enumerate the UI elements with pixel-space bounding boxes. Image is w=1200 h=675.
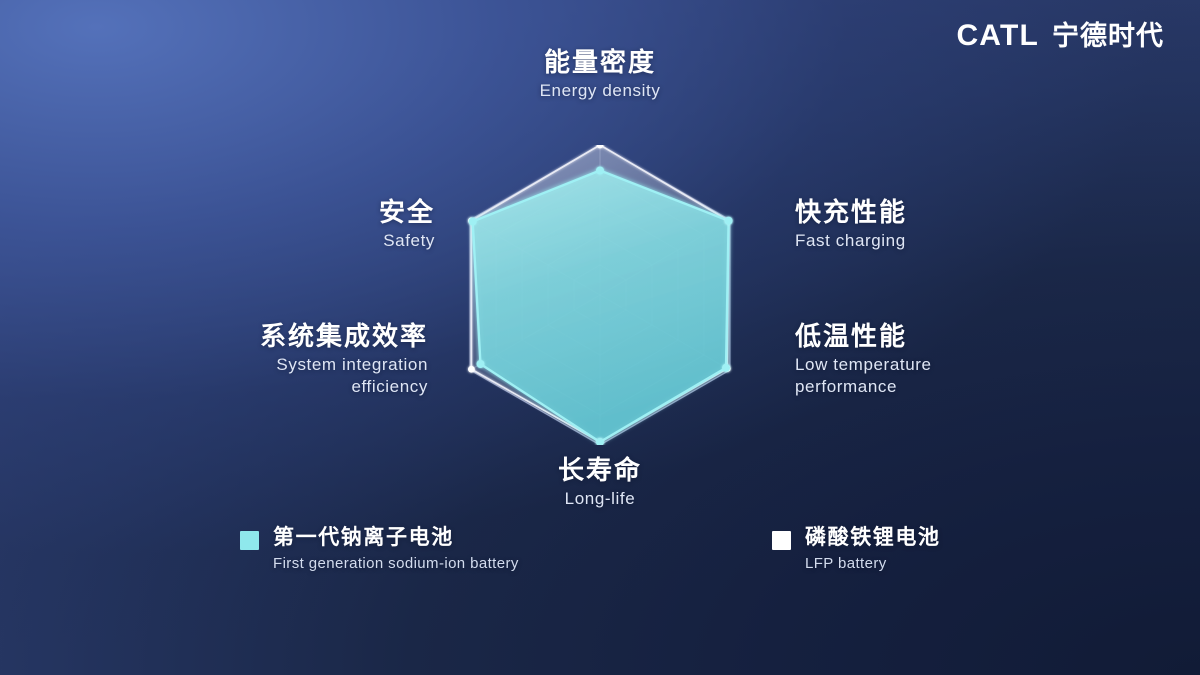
radar-point-sodium-ion-2: [722, 364, 730, 372]
legend-swatch-sodium-ion: [240, 531, 259, 550]
axis-label-system-integration-cn: 系统集成效率: [260, 322, 428, 351]
axis-label-safety-cn: 安全: [379, 198, 435, 227]
legend-text-lfp: 磷酸铁锂电池 LFP battery: [805, 526, 941, 573]
axis-label-energy-density-cn: 能量密度: [540, 48, 661, 77]
axis-label-safety: 安全 Safety: [379, 198, 435, 252]
legend-label-lfp-en: LFP battery: [805, 555, 941, 573]
axis-label-low-temperature-en-line1: Low temperature: [795, 354, 932, 376]
axis-label-system-integration-en-line2: efficiency: [260, 376, 428, 398]
axis-label-long-life: 长寿命 Long-life: [558, 456, 642, 510]
legend-item-sodium-ion: 第一代钠离子电池 First generation sodium-ion bat…: [240, 526, 519, 573]
axis-label-system-integration: 系统集成效率 System integration efficiency: [260, 322, 428, 398]
legend-swatch-lfp: [772, 531, 791, 550]
radar-point-sodium-ion-1: [725, 217, 733, 225]
axis-label-low-temperature-en-line2: performance: [795, 376, 932, 398]
radar-point-sodium-ion-0: [596, 167, 604, 175]
legend-item-lfp: 磷酸铁锂电池 LFP battery: [772, 526, 941, 573]
legend-label-sodium-ion-cn: 第一代钠离子电池: [273, 526, 519, 550]
axis-label-system-integration-en-line1: System integration: [260, 354, 428, 376]
radar-point-sodium-ion-5: [469, 218, 477, 226]
axis-label-energy-density: 能量密度 Energy density: [540, 48, 661, 102]
radar-point-lfp-4: [468, 366, 475, 373]
axis-label-low-temperature: 低温性能 Low temperature performance: [795, 322, 932, 398]
axis-label-fast-charging-en: Fast charging: [795, 230, 907, 252]
legend-text-sodium-ion: 第一代钠离子电池 First generation sodium-ion bat…: [273, 526, 519, 573]
axis-label-long-life-cn: 长寿命: [558, 456, 642, 485]
axis-label-safety-en: Safety: [379, 230, 435, 252]
radar-point-sodium-ion-4: [476, 360, 484, 368]
legend-label-sodium-ion-en: First generation sodium-ion battery: [273, 555, 519, 573]
legend-label-lfp-cn: 磷酸铁锂电池: [805, 526, 941, 550]
axis-label-fast-charging: 快充性能 Fast charging: [795, 198, 907, 252]
slide-canvas: CATL 宁德时代: [0, 0, 1200, 675]
radar-chart-svg: [450, 145, 750, 445]
axis-label-long-life-en: Long-life: [558, 488, 642, 510]
axis-label-low-temperature-cn: 低温性能: [795, 322, 932, 351]
radar-series-sodium-ion: [473, 171, 729, 443]
axis-label-energy-density-en: Energy density: [540, 80, 661, 102]
axis-label-fast-charging-cn: 快充性能: [795, 198, 907, 227]
radar-series: [471, 145, 728, 442]
